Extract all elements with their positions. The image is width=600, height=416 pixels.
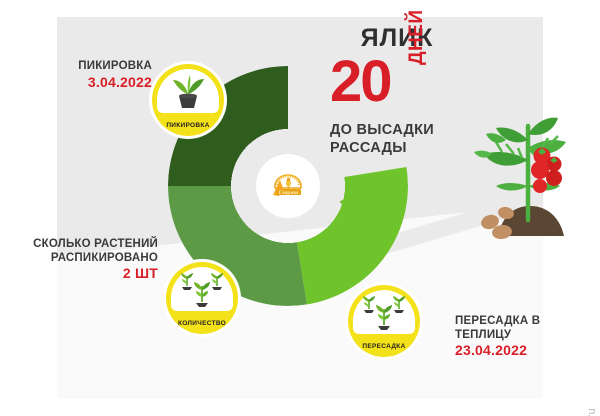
stage-badge-kolichestvo[interactable]: КОЛИЧЕСТВО: [166, 262, 238, 334]
countdown-row: 20 ДНЕЙ: [330, 59, 470, 117]
caption-value: 23.04.2022: [455, 342, 585, 359]
stage-badge-pikirovka[interactable]: ПИКИРОВКА: [152, 64, 224, 136]
headline-block: ЯЛИК 20 ДНЕЙ ДО ВЫСАДКИ РАССАДЫ: [330, 24, 470, 157]
three-seedlings-icon: [353, 289, 415, 333]
stage-badge-label: ПЕРЕСАДКА: [348, 343, 420, 350]
caption-pikirovka: ПИКИРОВКА 3.04.2022: [40, 60, 152, 90]
watermark-text: Загружено kseni для 7dach.ru: [586, 408, 598, 416]
tomato-plant-illustration: [462, 108, 582, 248]
svg-text:Гавриш: Гавриш: [279, 190, 299, 196]
headline-subtitle-line2: РАССАДЫ: [330, 139, 470, 157]
countdown-unit: ДНЕЙ: [406, 9, 428, 65]
caption-title-second-line: РАСПИКИРОВАНО: [18, 252, 158, 266]
three-seedlings-icon: [171, 266, 233, 310]
headline-subtitle-line1: ДО ВЫСАДКИ: [330, 121, 470, 139]
caption-title: СКОЛЬКО РАСТЕНИЙ: [18, 238, 158, 252]
caption-value: 3.04.2022: [40, 74, 152, 91]
caption-title-second-line: ТЕПЛИЦУ: [455, 329, 585, 343]
caption-title: ПИКИРОВКА: [40, 60, 152, 74]
countdown-number: 20: [330, 53, 391, 111]
caption-peresadka: ПЕРЕСАДКА В ТЕПЛИЦУ 23.04.2022: [455, 315, 585, 359]
caption-kolichestvo: СКОЛЬКО РАСТЕНИЙ РАСПИКИРОВАНО 2 ШТ: [18, 238, 158, 282]
seedling-in-pot-icon: [157, 68, 219, 112]
stage-badge-label: ПИКИРОВКА: [152, 122, 224, 129]
headline-subtitle: ДО ВЫСАДКИ РАССАДЫ: [330, 121, 470, 157]
caption-value: 2 ШТ: [18, 265, 158, 282]
caption-title: ПЕРЕСАДКА В: [455, 315, 585, 329]
brand-logo-icon: Гавриш: [272, 173, 304, 199]
stage-badge-label: КОЛИЧЕСТВО: [166, 320, 238, 327]
stage-badge-peresadka[interactable]: ПЕРЕСАДКА: [348, 285, 420, 357]
infographic-canvas: Гавриш ПИКИРОВКА: [0, 0, 600, 416]
